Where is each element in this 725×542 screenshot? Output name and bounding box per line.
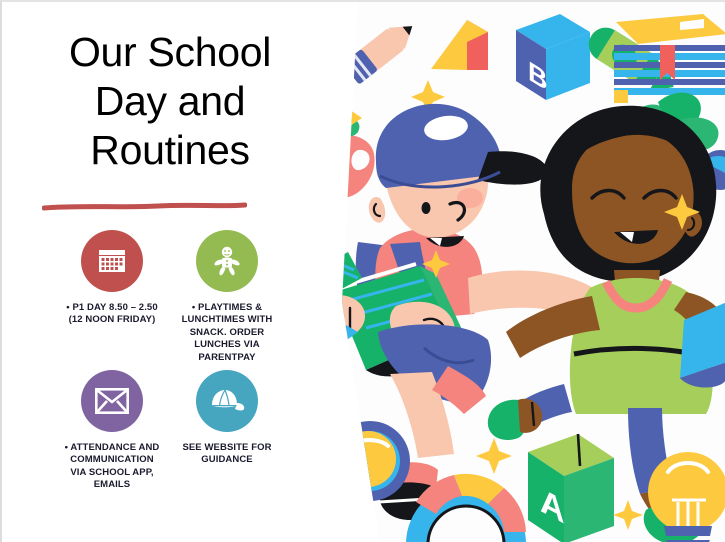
baseball-cap-icon — [196, 370, 258, 432]
title-divider — [42, 198, 247, 207]
page-title: Our School Day and Routines — [20, 28, 320, 175]
info-cell-playtimes: • PLAYTIMES & LUNCHTIMES WITH SNACK. ORD… — [152, 230, 302, 364]
calendar-icon — [81, 230, 143, 292]
info-cell-playtimes-caption: • PLAYTIMES & LUNCHTIMES WITH SNACK. ORD… — [152, 302, 302, 364]
title-line-3: Routines — [20, 126, 320, 175]
gingerbread-person-icon — [196, 230, 258, 292]
slide-canvas: B — [0, 0, 725, 542]
alphabet-block-b-illustration: B — [516, 14, 590, 100]
book-stack-illustration — [614, 14, 725, 103]
envelope-icon — [81, 370, 143, 432]
title-line-2: Day and — [20, 77, 320, 126]
info-cell-website: SEE WEBSITE FOR GUIDANCE — [152, 370, 302, 467]
illustration-children-school-supplies: B — [328, 2, 725, 542]
title-line-1: Our School — [20, 28, 320, 77]
alphabet-block-a-illustration: A — [528, 434, 614, 542]
info-cell-website-caption: SEE WEBSITE FOR GUIDANCE — [152, 442, 302, 467]
left-content-panel: Our School Day and Routines — [2, 2, 337, 542]
plate-illustration — [328, 421, 410, 501]
